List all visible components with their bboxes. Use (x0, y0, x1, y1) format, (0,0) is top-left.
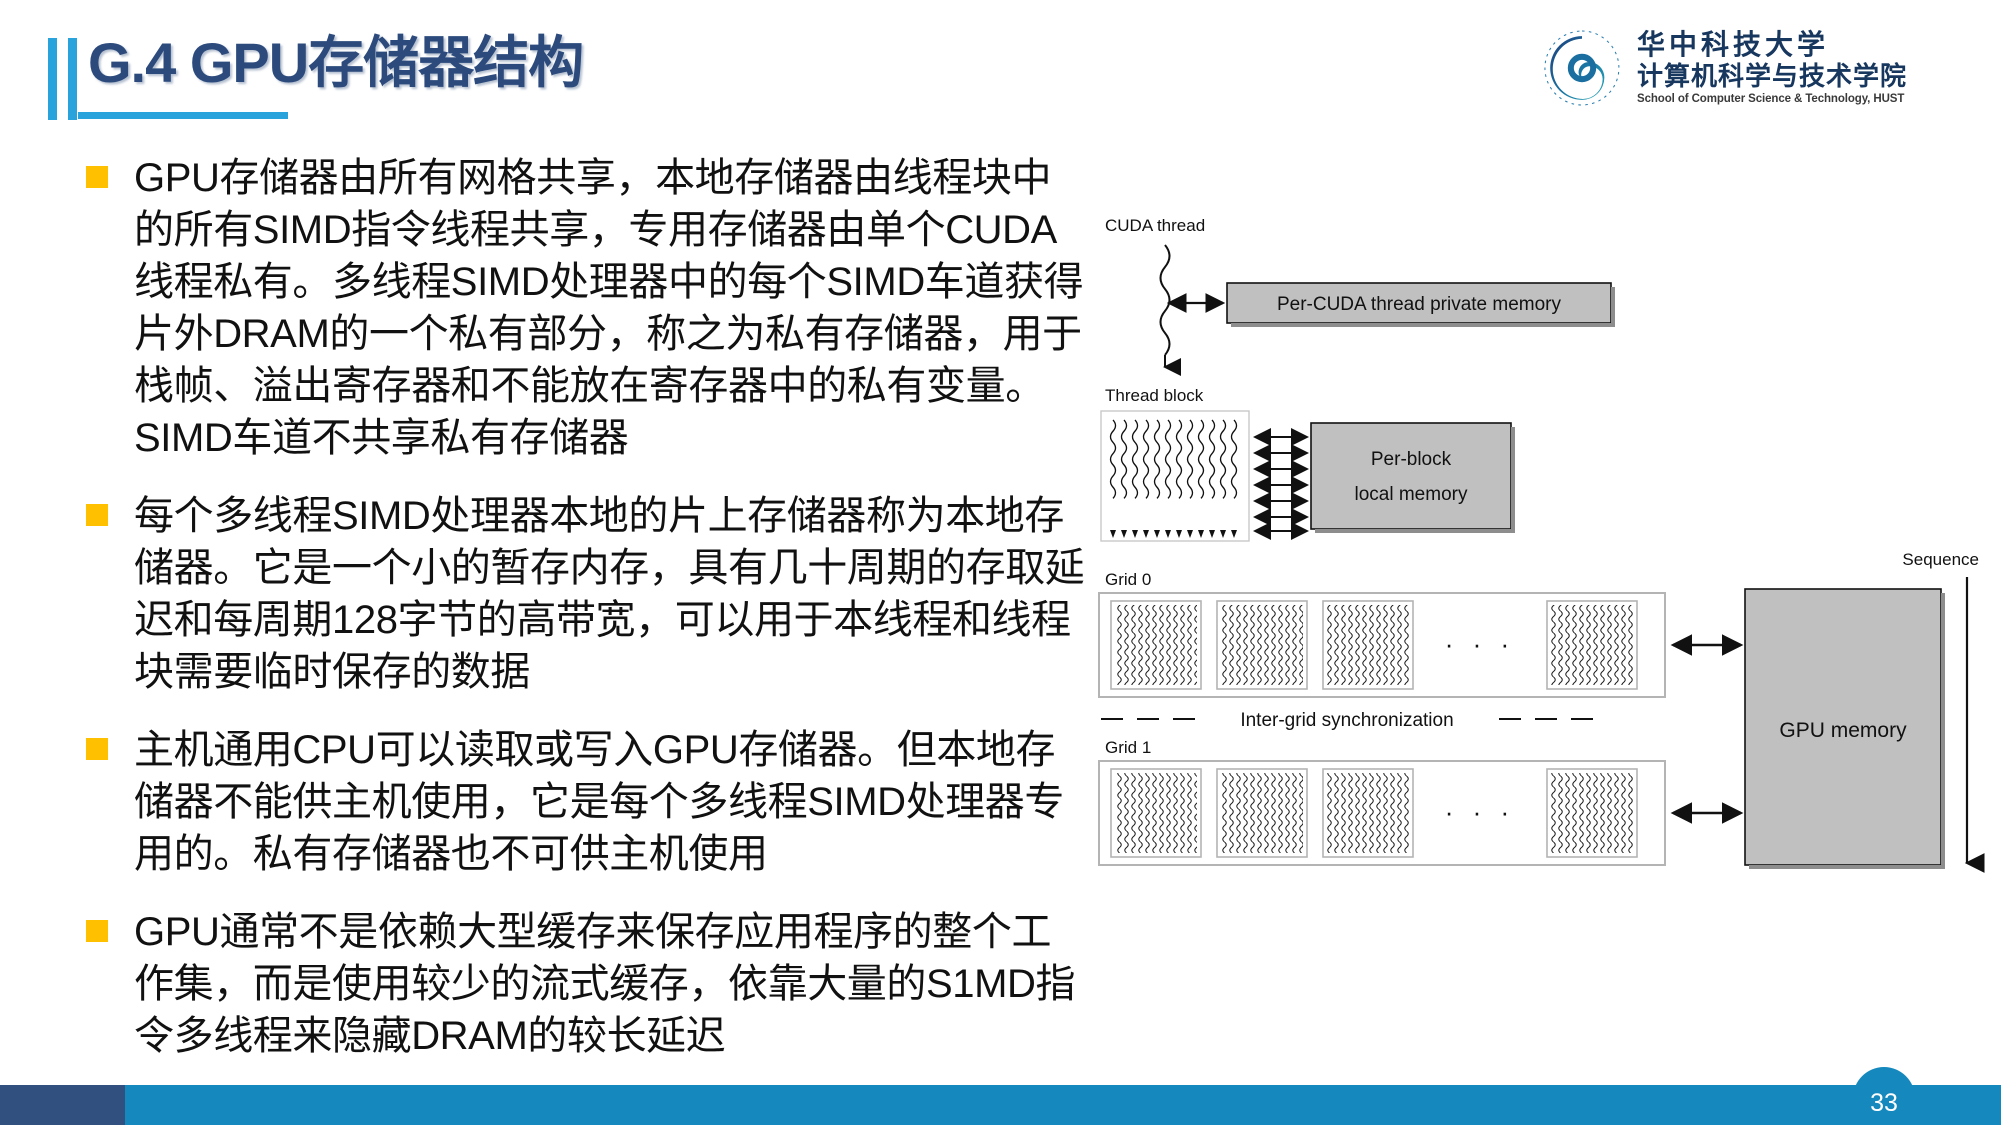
slide-footer: 33 (0, 1085, 2001, 1125)
page-number-badge: 33 (1853, 1067, 1915, 1125)
label-sequence: Sequence (1902, 550, 1979, 569)
grid0-ellipsis: · · · (1445, 629, 1515, 659)
label-local-memory: local memory (1355, 484, 1468, 505)
bullet-text: GPU通常不是依赖大型缓存来保存应用程序的整个工作集，而是使用较少的流式缓存，依… (134, 906, 1086, 1062)
label-gpu-memory: GPU memory (1779, 719, 1907, 742)
label-inter-grid-synchronization: Inter-grid synchronization (1240, 710, 1453, 731)
title-accent-bar-left (48, 38, 57, 120)
bullet-square-icon (86, 738, 108, 760)
grid1-ellipsis: · · · (1445, 797, 1515, 827)
grid0-blocks (1111, 601, 1637, 689)
label-thread-block: Thread block (1105, 386, 1204, 405)
page-title: G.4 GPU存储器结构 (88, 28, 583, 98)
logo-school-name-en: School of Computer Science & Technology,… (1637, 93, 1907, 105)
title-underline (78, 112, 288, 119)
list-item: GPU通常不是依赖大型缓存来保存应用程序的整个工作集，而是使用较少的流式缓存，依… (86, 906, 1086, 1062)
bullet-square-icon (86, 920, 108, 942)
label-per-block: Per-block (1371, 449, 1452, 470)
list-item: 每个多线程SIMD处理器本地的片上存储器称为本地存储器。它是一个小的暂存内存，具… (86, 490, 1086, 698)
cuda-memory-hierarchy-diagram: CUDA thread Per-CUDA thread private memo… (1095, 215, 1985, 905)
label-grid-1: Grid 1 (1105, 738, 1151, 757)
logo-text-block: 华中科技大学 计算机科学与技术学院 School of Computer Sci… (1637, 31, 1907, 106)
label-grid-0: Grid 0 (1105, 570, 1151, 589)
logo-school-name: 计算机科学与技术学院 (1637, 62, 1907, 91)
bullet-square-icon (86, 166, 108, 188)
footer-bar-dark (0, 1085, 125, 1125)
bullet-text: 主机通用CPU可以读取或写入GPU存储器。但本地存储器不能供主机使用，它是每个多… (134, 724, 1086, 880)
logo-university-name: 华中科技大学 (1637, 31, 1907, 60)
bullet-square-icon (86, 504, 108, 526)
label-per-cuda-thread-private-memory: Per-CUDA thread private memory (1277, 294, 1562, 315)
bullet-text: GPU存储器由所有网格共享，本地存储器由线程块中的所有SIMD指令线程共享，专用… (134, 152, 1086, 464)
grid1-blocks (1111, 769, 1637, 857)
list-item: 主机通用CPU可以读取或写入GPU存储器。但本地存储器不能供主机使用，它是每个多… (86, 724, 1086, 880)
footer-bar-light (125, 1085, 2001, 1125)
list-item: GPU存储器由所有网格共享，本地存储器由线程块中的所有SIMD指令线程共享，专用… (86, 152, 1086, 464)
university-logo: 华中科技大学 计算机科学与技术学院 School of Computer Sci… (1539, 22, 1979, 114)
page-number: 33 (1870, 1091, 1898, 1125)
slide-header: G.4 GPU存储器结构 (0, 0, 1300, 135)
hust-swirl-icon (1539, 25, 1625, 111)
bullet-list: GPU存储器由所有网格共享，本地存储器由线程块中的所有SIMD指令线程共享，专用… (86, 152, 1086, 1088)
label-cuda-thread: CUDA thread (1105, 216, 1205, 235)
title-accent-bar-right (68, 38, 77, 120)
bullet-text: 每个多线程SIMD处理器本地的片上存储器称为本地存储器。它是一个小的暂存内存，具… (134, 490, 1086, 698)
